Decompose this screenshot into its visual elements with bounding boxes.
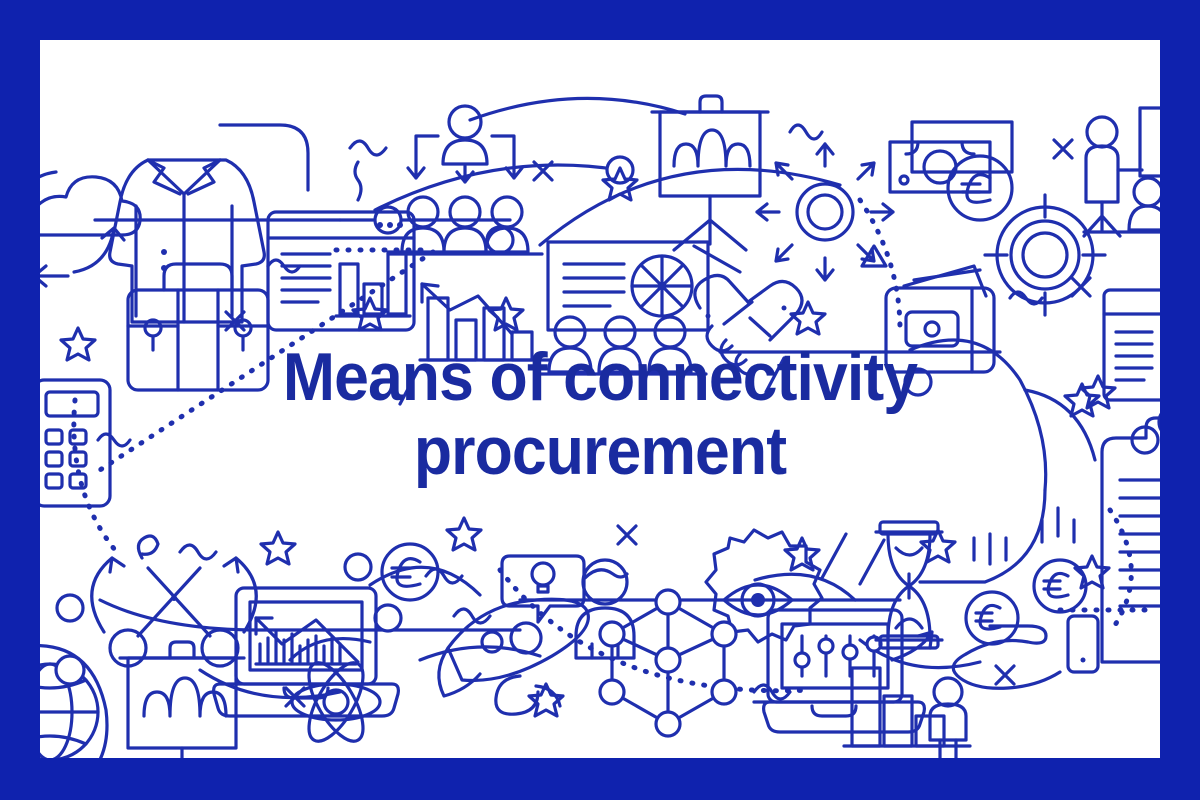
- bar-chart-person-icon: [844, 632, 970, 758]
- cloud-sync-icon: [40, 172, 140, 286]
- banner-frame: Means of connectivity procurement: [0, 0, 1200, 800]
- wallet-icon: [886, 266, 994, 372]
- cross-decoration: [226, 140, 1090, 706]
- flipchart-icon: [652, 96, 768, 250]
- laptop-sliders-icon: [754, 610, 924, 732]
- bar-chart-trend-icon: [400, 284, 550, 404]
- target-icon: [985, 195, 1105, 315]
- laptop-chart-icon: [214, 588, 399, 716]
- document-icon: [1104, 290, 1160, 400]
- handshake-icon: [694, 246, 802, 392]
- flipchart-bottom-icon: [120, 642, 244, 758]
- icon-illustration-layer: [40, 40, 1160, 758]
- suit-jacket-icon: [110, 160, 265, 322]
- star-decoration: [61, 168, 1115, 716]
- banner-canvas: Means of connectivity procurement: [40, 40, 1160, 758]
- banknote-euro-icon: [890, 122, 1012, 220]
- team-delegation-icon: [388, 106, 542, 254]
- expand-arrows-icon: [757, 144, 893, 280]
- rocket-icon: [439, 599, 589, 714]
- hand-coins-icon: [953, 508, 1098, 688]
- scissors-cycle-icon: [92, 536, 257, 666]
- globe-icon: [40, 646, 107, 758]
- presenter-audience-icon: [1084, 108, 1160, 236]
- briefcase-icon: [128, 264, 268, 390]
- clipboard-icon: [1102, 375, 1160, 662]
- presentation-audience-icon: [536, 242, 708, 374]
